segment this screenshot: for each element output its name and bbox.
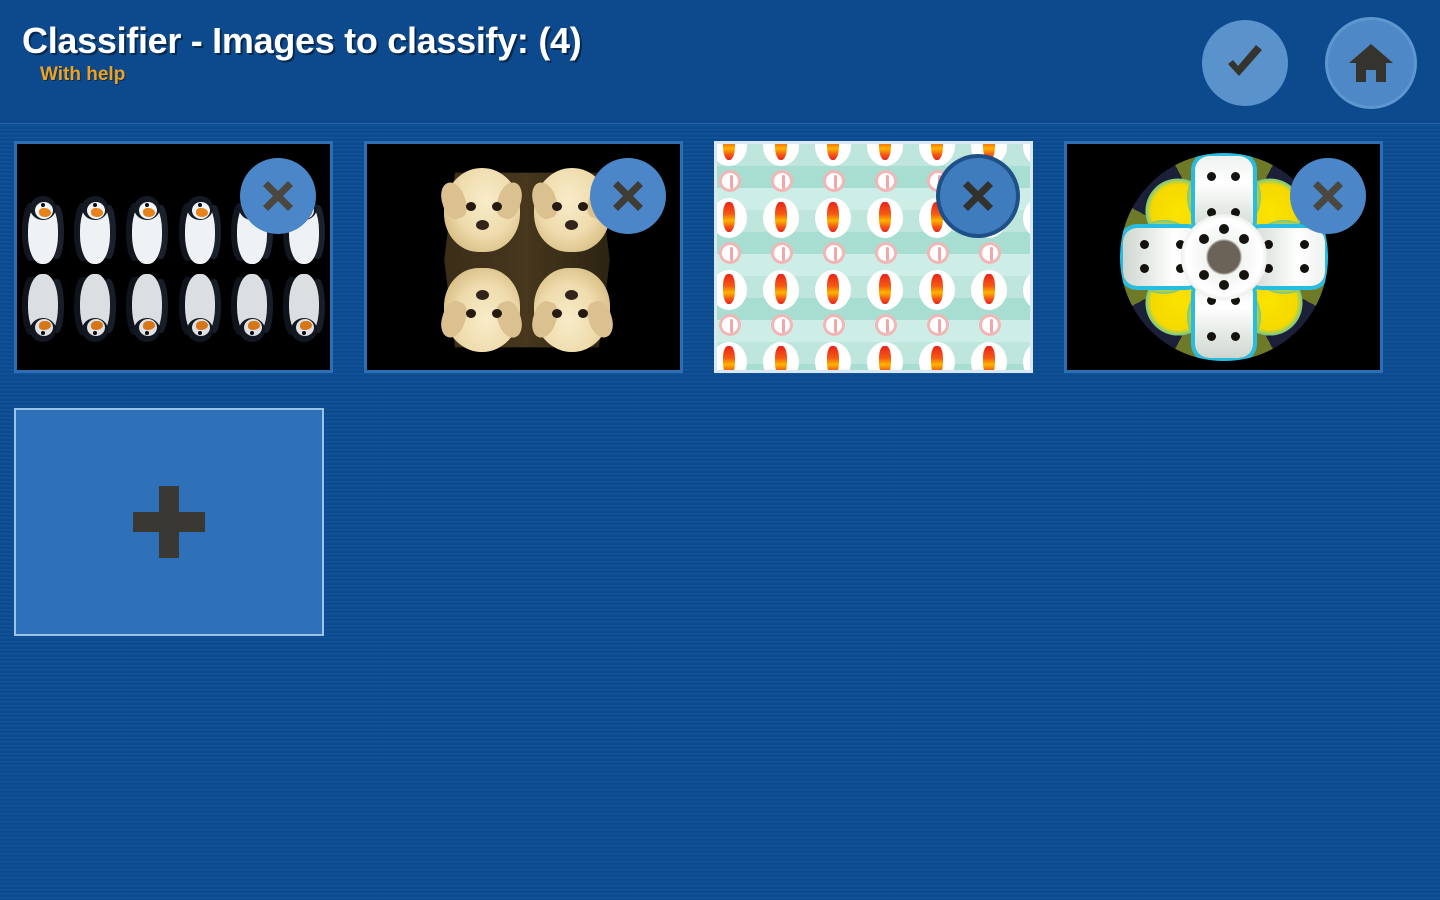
pattern-cell [1015,268,1030,340]
pattern-cell [807,268,859,340]
pattern-cell [963,340,1015,370]
pattern-cell [1015,196,1030,268]
close-icon [256,174,300,218]
pattern-cell [717,196,755,268]
home-icon [1346,38,1396,88]
delete-image-button[interactable] [590,158,666,234]
pattern-cell [859,268,911,340]
pattern-cell [859,196,911,268]
pattern-cell [755,340,807,370]
pattern-cell [755,268,807,340]
pattern-cell [807,196,859,268]
pattern-cell [717,268,755,340]
image-row [14,141,1414,373]
pattern-cell [859,144,911,196]
pattern-cell [717,340,755,370]
delete-image-button[interactable] [240,158,316,234]
plus-icon [125,478,213,566]
close-icon [1306,174,1350,218]
pattern-cell [1015,340,1030,370]
close-icon [956,174,1000,218]
delete-image-button[interactable] [1290,158,1366,234]
pattern-cell [807,340,859,370]
pattern-cell [755,196,807,268]
image-grid [14,141,1414,636]
pattern-cell [911,268,963,340]
pattern-cell [963,268,1015,340]
add-image-tile[interactable] [14,408,324,636]
delete-image-button[interactable] [940,158,1016,234]
pattern-cell [807,144,859,196]
home-button[interactable] [1328,20,1414,106]
thumbnail-pattern[interactable] [714,141,1033,373]
confirm-button[interactable] [1202,20,1288,106]
close-icon [606,174,650,218]
classifier-app: Classifier - Images to classify: (4) Wit… [0,0,1440,900]
page-subtitle: With help [40,64,581,86]
pattern-cell [717,144,755,196]
pattern-cell [859,340,911,370]
pattern-cell [755,144,807,196]
thumbnail-puppies[interactable] [364,141,683,373]
title-block: Classifier - Images to classify: (4) Wit… [22,22,581,86]
add-row [14,408,1414,636]
page-title: Classifier - Images to classify: (4) [22,22,581,60]
content-area [0,125,1440,900]
app-header: Classifier - Images to classify: (4) Wit… [0,0,1440,124]
pattern-cell [911,340,963,370]
check-icon [1219,37,1271,89]
thumbnail-penguins[interactable] [14,141,333,373]
thumbnail-kaleidoscope[interactable] [1064,141,1383,373]
pattern-cell [1015,144,1030,196]
